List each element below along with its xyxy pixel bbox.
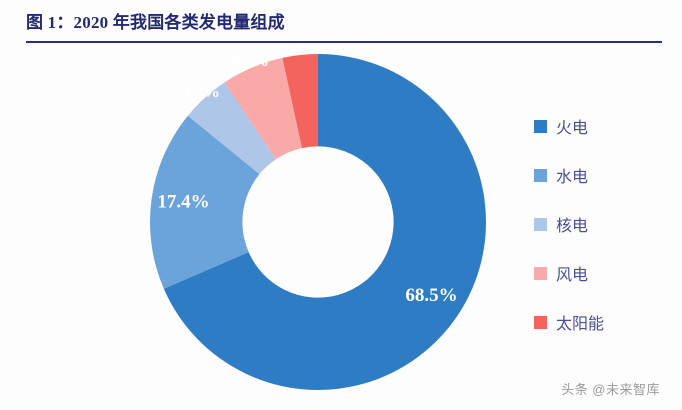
slice-data-label: 3.4% — [280, 52, 318, 57]
title-block: 图 1：2020 年我国各类发电量组成 — [26, 12, 666, 34]
legend-item-label: 核电 — [556, 212, 588, 236]
legend-swatch-icon — [534, 267, 547, 280]
title-divider — [26, 41, 662, 43]
figure-container: 图 1：2020 年我国各类发电量组成 68.5%17.4%4.7%6.0%3.… — [0, 0, 682, 410]
legend-item-label: 火电 — [556, 114, 588, 138]
legend-swatch-icon — [534, 169, 547, 182]
slice-data-label: 6.0% — [231, 52, 269, 70]
legend-item-label: 太阳能 — [556, 310, 604, 334]
page-title: 图 1：2020 年我国各类发电量组成 — [26, 12, 666, 34]
legend-item[interactable]: 风电 — [534, 261, 674, 285]
slice-data-label: 17.4% — [157, 192, 209, 213]
legend-item[interactable]: 太阳能 — [534, 310, 674, 334]
legend-item-label: 水电 — [556, 163, 588, 187]
donut-slices — [150, 54, 486, 390]
chart-legend: 火电水电核电风电太阳能 — [534, 114, 674, 359]
legend-item[interactable]: 火电 — [534, 114, 674, 138]
donut-chart: 68.5%17.4%4.7%6.0%3.4% — [140, 52, 500, 400]
legend-swatch-icon — [534, 316, 547, 329]
donut-chart-svg: 68.5%17.4%4.7%6.0%3.4% — [140, 52, 500, 400]
watermark: 头条 @未来智库 — [561, 379, 660, 398]
legend-swatch-icon — [534, 218, 547, 231]
slice-data-label: 4.7% — [182, 82, 220, 101]
legend-item-label: 风电 — [556, 261, 588, 285]
legend-swatch-icon — [534, 120, 547, 133]
legend-item[interactable]: 水电 — [534, 163, 674, 187]
slice-data-label: 68.5% — [405, 285, 457, 306]
legend-item[interactable]: 核电 — [534, 212, 674, 236]
